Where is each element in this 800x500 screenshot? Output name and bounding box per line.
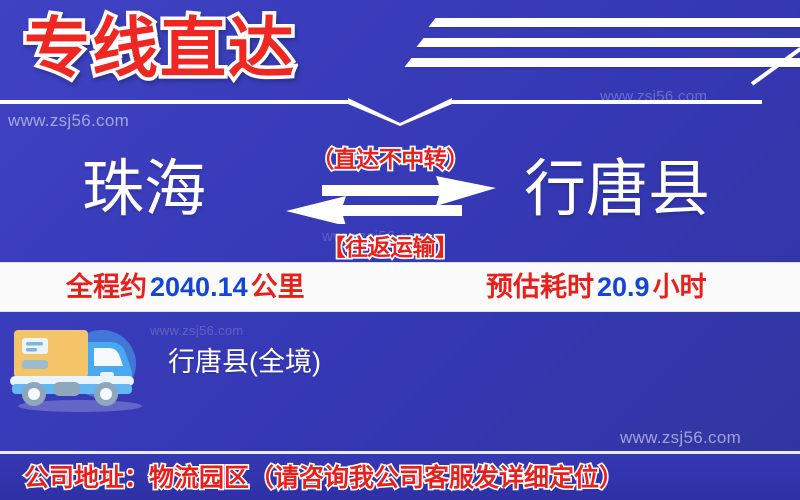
destination-city: 行唐县 xyxy=(524,140,710,240)
coverage-row: 行唐县(全境) xyxy=(0,318,800,410)
distance-info: 全程约2040.14公里 xyxy=(66,263,305,311)
decorative-stripe xyxy=(428,18,800,27)
route-info-bar: 全程约2040.14公里 预估耗时20.9小时 xyxy=(0,262,800,312)
page-title: 专线直达 xyxy=(24,4,296,92)
watermark: www.zsj56.com xyxy=(600,88,707,105)
round-trip-tag: 【往返运输】 xyxy=(280,228,500,262)
company-address-bar: 公司地址：物流园区（请咨询我公司客服发详细定位） xyxy=(0,451,800,500)
bidirectional-arrow-icon xyxy=(286,176,496,224)
divider-line-left xyxy=(0,100,348,104)
company-address-text: 公司地址：物流园区（请咨询我公司客服发详细定位） xyxy=(24,458,624,498)
duration-unit: 小时 xyxy=(653,272,707,302)
logistics-route-banner: 专线直达 www.zsj56.com www.zsj56.com www.zsj… xyxy=(0,0,800,500)
duration-value: 20.9 xyxy=(594,272,653,302)
coverage-area-label: 行唐县(全境) xyxy=(168,340,321,384)
distance-value: 2040.14 xyxy=(147,272,251,302)
distance-unit: 公里 xyxy=(251,272,305,302)
route-center-cluster: （直达不中转） 【往返运输】 xyxy=(280,134,500,264)
delivery-truck-icon xyxy=(6,320,148,412)
duration-label: 预估耗时 xyxy=(486,272,594,302)
decorative-stripe xyxy=(416,38,800,47)
chevron-down-icon xyxy=(348,96,452,126)
watermark: www.zsj56.com xyxy=(8,111,129,131)
route-row: 珠海 行唐县 （直达不中转） 【往返运输】 xyxy=(0,140,800,260)
decorative-stripe xyxy=(404,58,800,67)
duration-info: 预估耗时20.9小时 xyxy=(486,263,707,311)
distance-label: 全程约 xyxy=(66,272,147,302)
direct-route-tag: （直达不中转） xyxy=(280,140,500,174)
origin-city: 珠海 xyxy=(82,140,206,240)
watermark: www.zsj56.com xyxy=(620,428,741,448)
